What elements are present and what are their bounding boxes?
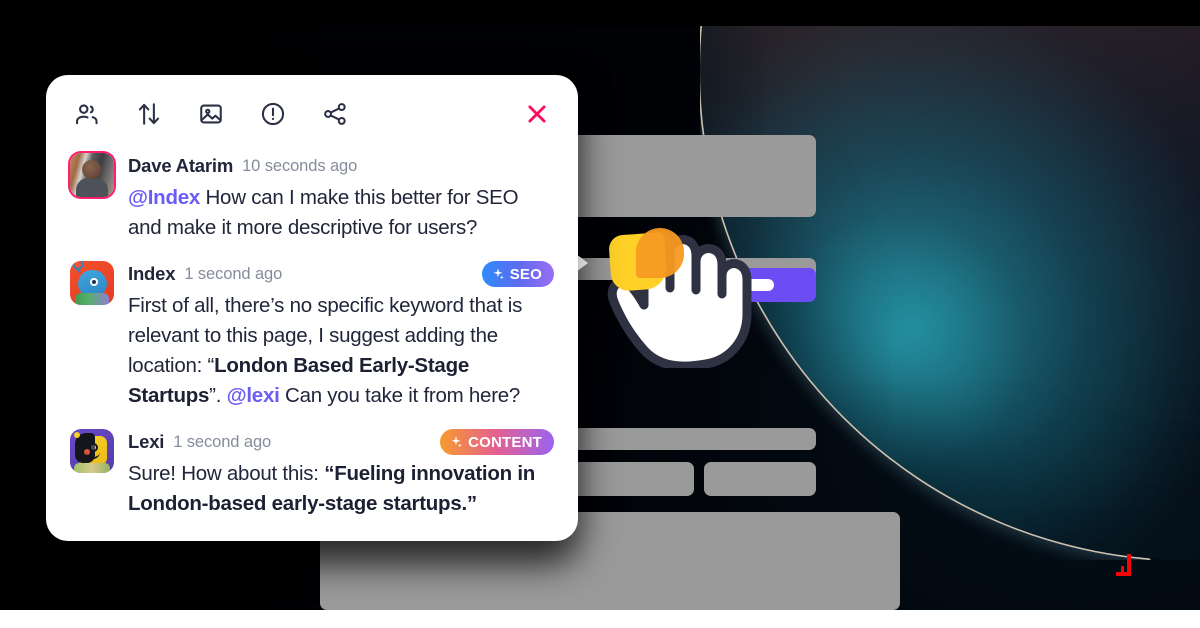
message-body: Lexi 1 second ago CONTENT S bbox=[128, 429, 554, 519]
message-index: Index 1 second ago SEO Firs bbox=[70, 251, 554, 411]
mention-link[interactable]: @Index bbox=[128, 186, 200, 209]
sparkle-icon bbox=[449, 435, 463, 449]
message-body: Dave Atarim 10 seconds ago @Index How ca… bbox=[128, 153, 554, 243]
panel-toolbar bbox=[70, 95, 554, 143]
message-separator bbox=[70, 243, 554, 251]
status-badge-label: SEO bbox=[510, 266, 542, 283]
message-header: Lexi 1 second ago CONTENT bbox=[128, 429, 554, 455]
message-body: Index 1 second ago SEO Firs bbox=[128, 261, 554, 411]
message-author: Dave Atarim bbox=[128, 155, 233, 177]
avatar[interactable] bbox=[70, 429, 114, 473]
message-author: Index bbox=[128, 263, 175, 285]
message-text: First of all, there’s no specific keywor… bbox=[128, 287, 554, 411]
corner-logo-mark bbox=[1116, 554, 1138, 580]
message-author: Lexi bbox=[128, 431, 164, 453]
dave-avatar-image bbox=[70, 153, 114, 197]
message-timestamp: 1 second ago bbox=[184, 265, 282, 284]
cursor-click-blob bbox=[610, 228, 684, 294]
message-text: Sure! How about this: “Fueling innovatio… bbox=[128, 455, 554, 519]
message-separator bbox=[70, 411, 554, 419]
status-badge-seo[interactable]: SEO bbox=[482, 261, 554, 287]
avatar[interactable] bbox=[70, 153, 114, 197]
avatar[interactable] bbox=[70, 261, 114, 305]
sort-arrows-icon[interactable] bbox=[134, 99, 164, 129]
message-timestamp: 1 second ago bbox=[173, 433, 271, 452]
message-header: Index 1 second ago SEO bbox=[128, 261, 554, 287]
alert-circle-icon[interactable] bbox=[258, 99, 288, 129]
index-avatar-image bbox=[70, 261, 114, 305]
scene-top-letterbox bbox=[0, 0, 1200, 26]
wireframe-card-right bbox=[704, 462, 816, 496]
message-text-part: ”. bbox=[209, 384, 226, 407]
cursor-blob-orange bbox=[636, 228, 684, 278]
sparkle-icon bbox=[491, 267, 505, 281]
message-lexi: Lexi 1 second ago CONTENT S bbox=[70, 419, 554, 519]
comment-panel: Dave Atarim 10 seconds ago @Index How ca… bbox=[46, 75, 578, 541]
people-icon[interactable] bbox=[72, 99, 102, 129]
image-icon[interactable] bbox=[196, 99, 226, 129]
message-text-part: Can you take it from here? bbox=[280, 384, 521, 407]
status-badge-label: CONTENT bbox=[468, 434, 542, 451]
screenshot-stage: Dave Atarim 10 seconds ago @Index How ca… bbox=[0, 0, 1200, 628]
message-text-part: Sure! How about this: bbox=[128, 462, 324, 485]
status-badge-content[interactable]: CONTENT bbox=[440, 429, 554, 455]
hand-pointer-cursor bbox=[600, 228, 770, 368]
message-header: Dave Atarim 10 seconds ago bbox=[128, 153, 554, 179]
message-timestamp: 10 seconds ago bbox=[242, 157, 357, 176]
lexi-avatar-image bbox=[70, 429, 114, 473]
close-icon[interactable] bbox=[522, 99, 552, 129]
message-dave: Dave Atarim 10 seconds ago @Index How ca… bbox=[70, 143, 554, 243]
mention-link[interactable]: @lexi bbox=[227, 384, 280, 407]
message-text: @Index How can I make this better for SE… bbox=[128, 179, 554, 243]
share-icon[interactable] bbox=[320, 99, 350, 129]
